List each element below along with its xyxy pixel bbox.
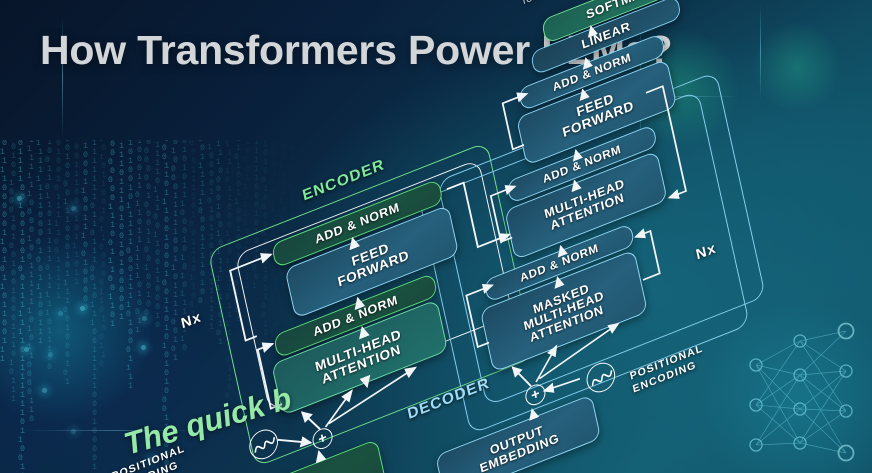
rain-column: 0 1 1 1 1 0 0 1 0 0 1 0 0 1 0 0 1 1 1 1 …: [18, 140, 27, 473]
rain-spark: [24, 347, 29, 352]
rain-spark: [42, 388, 47, 393]
rain-column: 1 0 1 1 1 1 1 1 1 1 1 0 0 0 0 1 0 0 1 1 …: [36, 140, 45, 346]
banner-stage: 0 1 1 1 1 0 0 0 0 0 1 1 0 1 0 1 1 0 1 1 …: [0, 0, 872, 473]
rain-column: 0 0 0 0 1 1 1 1 1 1 1 1 0 0 0 0 1 0 0 1 …: [27, 140, 36, 424]
rain-column: 0 0 1 1 1 0 0 1 1 0 1 1 0 1 1 1 1 1 0 1 …: [45, 140, 54, 372]
rain-column: 0 1 1 1 1 0 0 0 0 0 1 1 0 1 0 1 1 0 1 1 …: [0, 140, 9, 364]
encoder-nx-label: Nx: [180, 309, 203, 332]
rain-spark: [48, 352, 53, 357]
encoder-add-symbol: +: [317, 430, 328, 447]
token-sample-fox: fox: [521, 0, 540, 7]
decoder-add-symbol: +: [530, 386, 541, 403]
rain-column: 1 1 1 0 0 1 0 0 1 0 0 0 1 0 1 0 0 1 0 0 …: [9, 140, 18, 404]
rain-spark: [17, 196, 22, 201]
